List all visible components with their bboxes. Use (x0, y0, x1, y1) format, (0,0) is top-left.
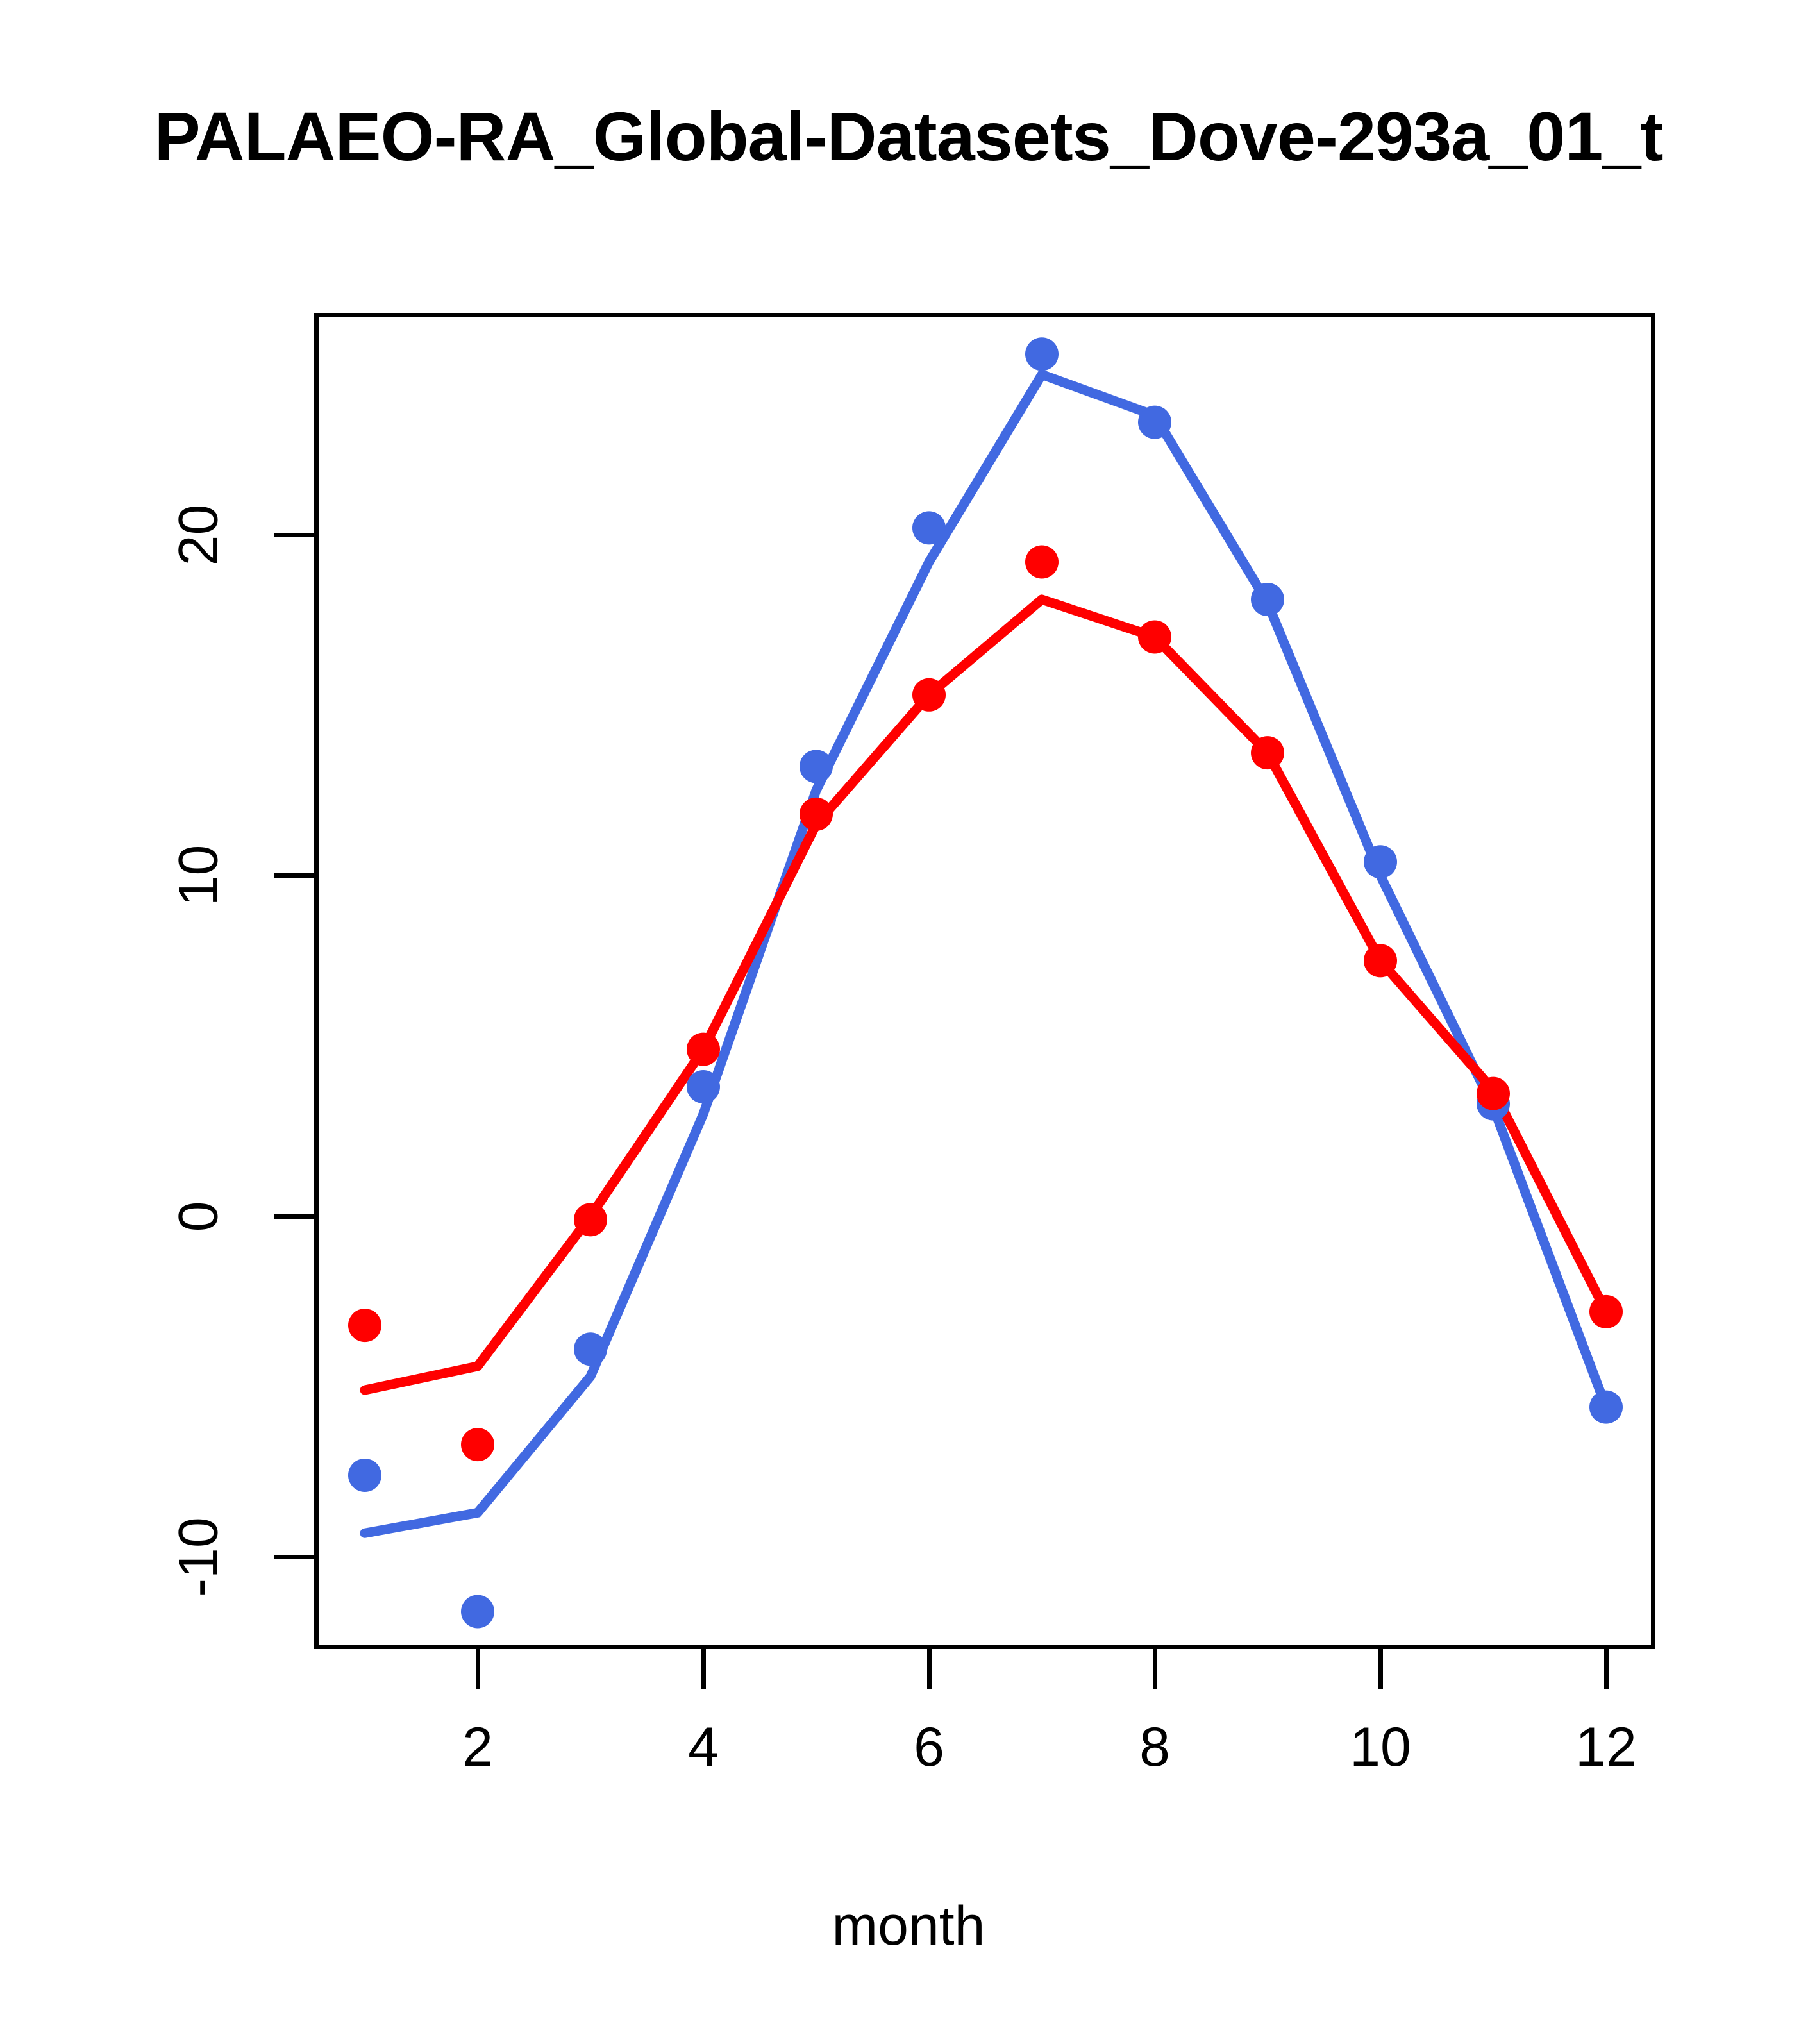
x-tick-label: 4 (639, 1716, 767, 1779)
x-tick-mark (1378, 1649, 1383, 1689)
x-tick-label: 2 (414, 1716, 542, 1779)
data-point (1025, 546, 1059, 579)
data-point (800, 798, 833, 831)
y-tick-mark (274, 1214, 314, 1219)
data-point (912, 511, 946, 544)
y-tick-mark (274, 533, 314, 537)
plot-series-layer (314, 313, 1655, 1649)
data-point (1138, 620, 1171, 653)
y-tick-label: 20 (167, 504, 230, 565)
data-point (1025, 337, 1059, 371)
data-point (461, 1428, 494, 1461)
data-point (1138, 406, 1171, 439)
data-point (1251, 736, 1284, 769)
data-point (1477, 1077, 1510, 1110)
data-point (912, 678, 946, 712)
data-point (574, 1203, 607, 1236)
y-tick-mark (274, 1555, 314, 1559)
data-point (1364, 944, 1397, 977)
data-point (574, 1332, 607, 1366)
data-point (348, 1459, 381, 1492)
x-tick-label: 6 (865, 1716, 993, 1779)
red-series-line (365, 599, 1606, 1390)
page-title: PALAEO-RA_Global-Datasets_Dove-293a_01_t (0, 96, 1817, 176)
data-point (1364, 845, 1397, 878)
x-tick-mark (1604, 1649, 1609, 1689)
x-tick-label: 12 (1542, 1716, 1670, 1779)
x-tick-label: 8 (1091, 1716, 1219, 1779)
data-point (461, 1595, 494, 1629)
data-point (687, 1033, 720, 1066)
data-point (687, 1070, 720, 1103)
y-tick-label: 10 (167, 845, 230, 907)
x-axis-title: month (0, 1895, 1817, 1958)
x-tick-mark (1153, 1649, 1157, 1689)
data-point (348, 1309, 381, 1342)
data-point (800, 750, 833, 783)
y-tick-label: -10 (167, 1517, 231, 1596)
data-point (1589, 1391, 1623, 1424)
data-point (1589, 1295, 1623, 1328)
x-tick-mark (701, 1649, 706, 1689)
x-tick-mark (476, 1649, 480, 1689)
chart-canvas: PALAEO-RA_Global-Datasets_Dove-293a_01_t… (0, 0, 1817, 2044)
x-tick-mark (927, 1649, 932, 1689)
y-tick-label: 0 (167, 1201, 231, 1232)
x-tick-label: 10 (1316, 1716, 1444, 1779)
blue-series-line (365, 374, 1606, 1533)
data-point (1251, 583, 1284, 616)
y-tick-mark (274, 873, 314, 878)
